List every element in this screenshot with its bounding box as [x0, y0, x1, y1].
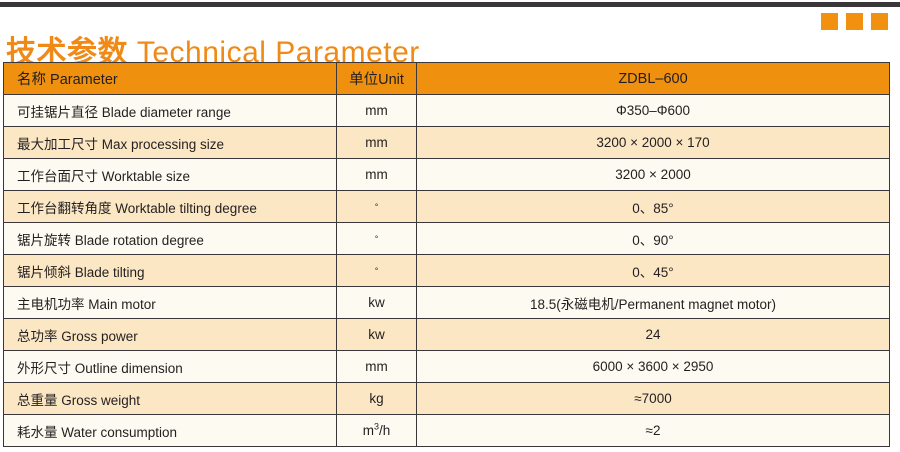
table-row: 锯片倾斜 Blade tilting°0、45°: [4, 255, 890, 287]
cell-value: 0、45°: [417, 255, 890, 287]
cell-value: 3200 × 2000: [417, 159, 890, 191]
cell-value: ≈7000: [417, 383, 890, 415]
table-row: 可挂锯片直径 Blade diameter rangemmΦ350–Φ600: [4, 95, 890, 127]
cell-unit: mm: [337, 127, 417, 159]
cell-unit: kw: [337, 319, 417, 351]
cell-unit: m3/h: [337, 415, 417, 447]
decoration-square-2: [846, 13, 863, 30]
cell-parameter: 外形尺寸 Outline dimension: [4, 351, 337, 383]
table-row: 锯片旋转 Blade rotation degree°0、90°: [4, 223, 890, 255]
cell-parameter: 锯片旋转 Blade rotation degree: [4, 223, 337, 255]
cell-parameter: 最大加工尺寸 Max processing size: [4, 127, 337, 159]
cell-parameter: 工作台面尺寸 Worktable size: [4, 159, 337, 191]
table-row: 工作台翻转角度 Worktable tilting degree°0、85°: [4, 191, 890, 223]
cell-parameter: 可挂锯片直径 Blade diameter range: [4, 95, 337, 127]
cell-unit: °: [337, 191, 417, 223]
table-row: 最大加工尺寸 Max processing sizemm3200 × 2000 …: [4, 127, 890, 159]
column-header-parameter: 名称 Parameter: [4, 63, 337, 95]
column-header-model: ZDBL–600: [417, 63, 890, 95]
table-row: 主电机功率 Main motorkw18.5(永磁电机/Permanent ma…: [4, 287, 890, 319]
cell-value: 18.5(永磁电机/Permanent magnet motor): [417, 287, 890, 319]
table-row: 总重量 Gross weightkg≈7000: [4, 383, 890, 415]
cell-value: 0、90°: [417, 223, 890, 255]
cell-unit: mm: [337, 159, 417, 191]
cell-parameter: 锯片倾斜 Blade tilting: [4, 255, 337, 287]
cell-parameter: 工作台翻转角度 Worktable tilting degree: [4, 191, 337, 223]
cell-unit: mm: [337, 351, 417, 383]
cell-unit: kg: [337, 383, 417, 415]
cell-value: 0、85°: [417, 191, 890, 223]
cell-value: ≈2: [417, 415, 890, 447]
cell-value: 24: [417, 319, 890, 351]
top-rule: [0, 2, 900, 7]
cell-unit: kw: [337, 287, 417, 319]
cell-unit: °: [337, 255, 417, 287]
degree-symbol: °: [375, 234, 379, 244]
decoration-square-1: [821, 13, 838, 30]
cell-value: 3200 × 2000 × 170: [417, 127, 890, 159]
cell-unit: mm: [337, 95, 417, 127]
corner-decoration-squares: [821, 13, 888, 30]
cell-parameter: 主电机功率 Main motor: [4, 287, 337, 319]
degree-symbol: °: [375, 266, 379, 276]
table-row: 耗水量 Water consumptionm3/h≈2: [4, 415, 890, 447]
cell-parameter: 总功率 Gross power: [4, 319, 337, 351]
degree-symbol: °: [375, 202, 379, 212]
cell-parameter: 总重量 Gross weight: [4, 383, 337, 415]
decoration-square-3: [871, 13, 888, 30]
table-row: 外形尺寸 Outline dimensionmm6000 × 3600 × 29…: [4, 351, 890, 383]
cell-value: 6000 × 3600 × 2950: [417, 351, 890, 383]
table-row: 总功率 Gross powerkw24: [4, 319, 890, 351]
table-row: 工作台面尺寸 Worktable sizemm3200 × 2000: [4, 159, 890, 191]
cell-value: Φ350–Φ600: [417, 95, 890, 127]
table-header-row: 名称 Parameter 单位Unit ZDBL–600: [4, 63, 890, 95]
cell-parameter: 耗水量 Water consumption: [4, 415, 337, 447]
technical-parameter-table: 名称 Parameter 单位Unit ZDBL–600 可挂锯片直径 Blad…: [3, 62, 890, 447]
column-header-unit: 单位Unit: [337, 63, 417, 95]
cell-unit: °: [337, 223, 417, 255]
